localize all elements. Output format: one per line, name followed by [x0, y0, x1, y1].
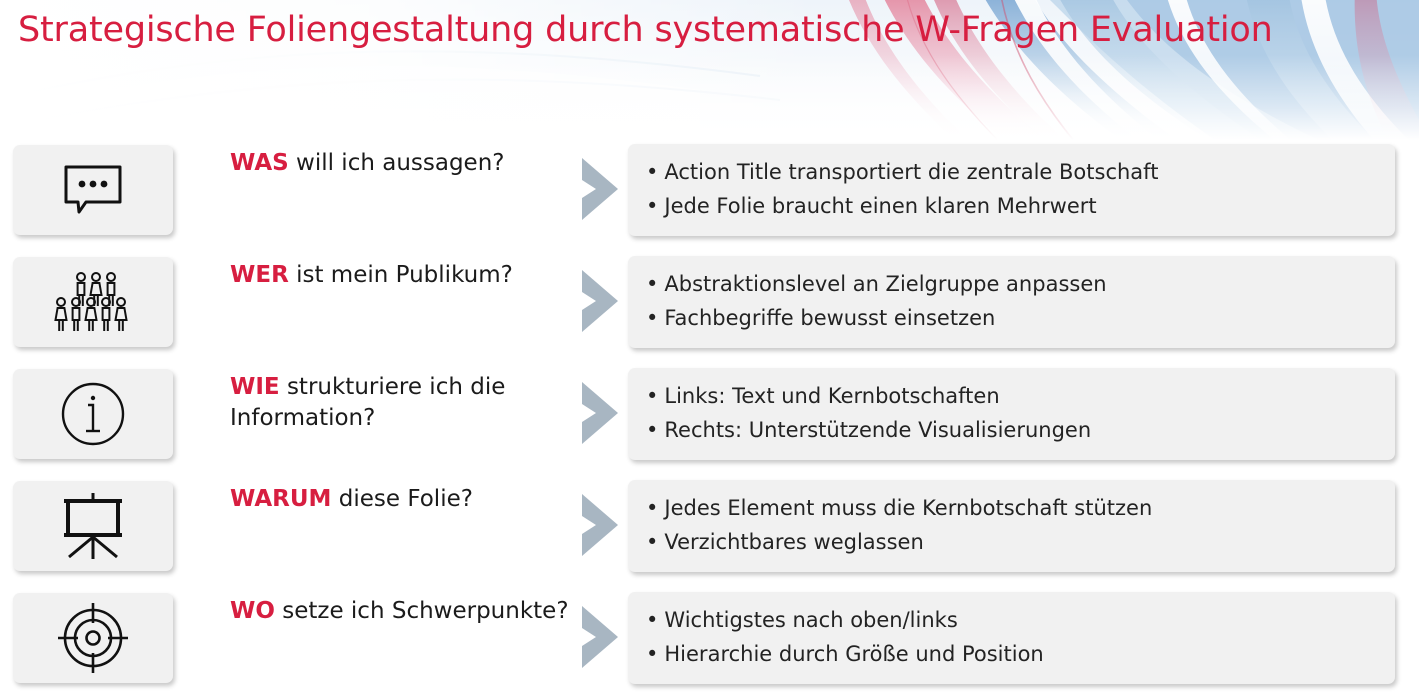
target-crosshair-icon — [56, 601, 130, 675]
content-panel: •Wichtigstes nach oben/links •Hierarchie… — [628, 592, 1395, 684]
bullet-dot: • — [646, 418, 658, 442]
bullet-text: Verzichtbares weglassen — [664, 530, 923, 554]
bullet-item: •Links: Text und Kernbotschaften — [646, 379, 1377, 413]
question-rest: will ich aussagen? — [289, 150, 505, 176]
w-question-row: WIE strukturiere ich die Information? •L… — [0, 364, 1419, 476]
chevron-right-icon — [578, 602, 630, 672]
question-rest: setze ich Schwerpunkte? — [275, 598, 569, 624]
bullet-dot: • — [646, 160, 658, 184]
content-panel: •Abstraktionslevel an Zielgruppe anpasse… — [628, 256, 1395, 348]
bullet-item: •Jede Folie braucht einen klaren Mehrwer… — [646, 189, 1377, 223]
bullet-dot: • — [646, 194, 658, 218]
bullet-text: Action Title transportiert die zentrale … — [664, 160, 1158, 184]
question-keyword: WO — [230, 598, 275, 624]
w-questions-list: WAS will ich aussagen? •Action Title tra… — [0, 140, 1419, 700]
bullet-item: •Verzichtbares weglassen — [646, 525, 1377, 559]
bullet-text: Jede Folie braucht einen klaren Mehrwert — [664, 194, 1096, 218]
bullet-item: •Rechts: Unterstützende Visualisierungen — [646, 413, 1377, 447]
question-text: WO setze ich Schwerpunkte? — [230, 596, 570, 627]
content-panel: •Jedes Element muss die Kernbotschaft st… — [628, 480, 1395, 572]
bullet-text: Wichtigstes nach oben/links — [664, 608, 957, 632]
bullet-text: Abstraktionslevel an Zielgruppe anpassen — [664, 272, 1106, 296]
bullet-dot: • — [646, 530, 658, 554]
question-keyword: WER — [230, 262, 289, 288]
chevron-right-icon — [578, 490, 630, 560]
question-text: WER ist mein Publikum? — [230, 260, 570, 291]
chevron-right-icon — [578, 266, 630, 336]
bullet-item: •Hierarchie durch Größe und Position — [646, 637, 1377, 671]
presentation-screen-icon — [56, 491, 130, 561]
bullet-dot: • — [646, 272, 658, 296]
bullet-text: Hierarchie durch Größe und Position — [664, 642, 1043, 666]
question-keyword: WAS — [230, 150, 289, 176]
bullet-text: Fachbegriffe bewusst einsetzen — [664, 306, 995, 330]
question-keyword: WARUM — [230, 486, 331, 512]
content-panel: •Action Title transportiert die zentrale… — [628, 144, 1395, 236]
w-question-row: WAS will ich aussagen? •Action Title tra… — [0, 140, 1419, 252]
icon-tile-warum[interactable] — [13, 481, 173, 571]
bullet-dot: • — [646, 306, 658, 330]
bullet-dot: • — [646, 496, 658, 520]
speech-bubble-icon — [62, 164, 124, 216]
chevron-right-icon — [578, 378, 630, 448]
icon-tile-was[interactable] — [13, 145, 173, 235]
question-rest: ist mein Publikum? — [289, 262, 513, 288]
w-question-row: WO setze ich Schwerpunkte? •Wichtigstes … — [0, 588, 1419, 700]
bullet-dot: • — [646, 384, 658, 408]
bullet-text: Links: Text und Kernbotschaften — [664, 384, 999, 408]
bullet-text: Jedes Element muss die Kernbotschaft stü… — [664, 496, 1152, 520]
question-text: WIE strukturiere ich die Information? — [230, 372, 570, 434]
w-question-row: WER ist mein Publikum? •Abstraktionsleve… — [0, 252, 1419, 364]
bullet-item: •Action Title transportiert die zentrale… — [646, 155, 1377, 189]
question-rest: diese Folie? — [331, 486, 473, 512]
bullet-item: •Wichtigstes nach oben/links — [646, 603, 1377, 637]
bullet-item: •Abstraktionslevel an Zielgruppe anpasse… — [646, 267, 1377, 301]
bullet-text: Rechts: Unterstützende Visualisierungen — [664, 418, 1091, 442]
chevron-right-icon — [578, 154, 630, 224]
page-title: Strategische Foliengestaltung durch syst… — [18, 6, 1273, 54]
info-circle-icon — [58, 379, 128, 449]
bullet-dot: • — [646, 608, 658, 632]
header-banner: Strategische Foliengestaltung durch syst… — [0, 0, 1419, 140]
question-text: WARUM diese Folie? — [230, 484, 570, 515]
question-text: WAS will ich aussagen? — [230, 148, 570, 179]
content-panel: •Links: Text und Kernbotschaften •Rechts… — [628, 368, 1395, 460]
icon-tile-wer[interactable] — [13, 257, 173, 347]
bullet-item: •Fachbegriffe bewusst einsetzen — [646, 301, 1377, 335]
icon-tile-wo[interactable] — [13, 593, 173, 683]
audience-people-icon — [54, 271, 132, 333]
question-keyword: WIE — [230, 374, 280, 400]
w-question-row: WARUM diese Folie? •Jedes Element muss d… — [0, 476, 1419, 588]
bullet-dot: • — [646, 642, 658, 666]
icon-tile-wie[interactable] — [13, 369, 173, 459]
bullet-item: •Jedes Element muss die Kernbotschaft st… — [646, 491, 1377, 525]
